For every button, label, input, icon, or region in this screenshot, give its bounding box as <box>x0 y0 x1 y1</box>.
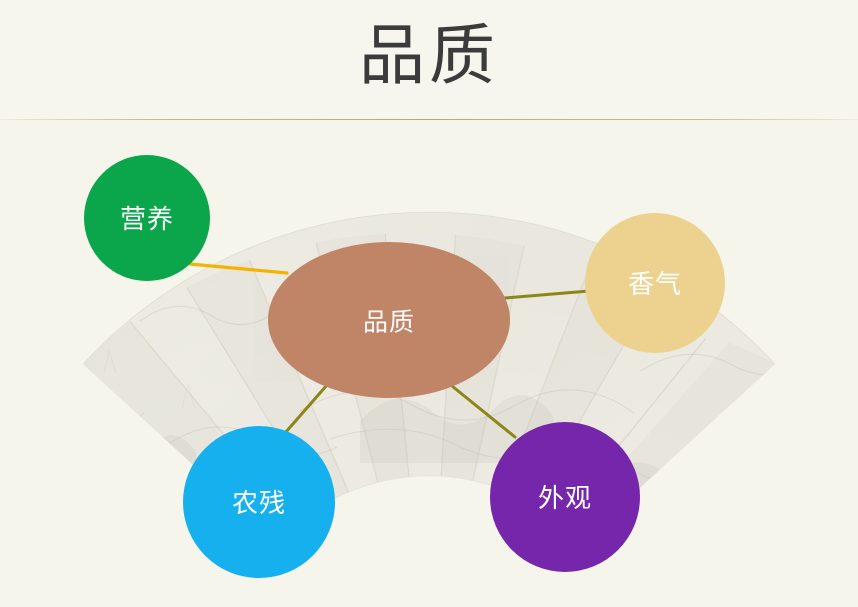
slide-canvas: 品质 <box>0 0 858 607</box>
node-aroma[interactable]: 香气 <box>585 213 725 353</box>
page-title: 品质 <box>0 8 858 104</box>
node-appearance[interactable]: 外观 <box>490 422 640 572</box>
node-center-label: 品质 <box>363 308 415 337</box>
connector-center-to-pesticide-residue <box>285 385 327 433</box>
node-pesticide-residue[interactable]: 农残 <box>183 426 335 578</box>
node-appearance-label: 外观 <box>538 484 592 514</box>
node-nutrition-label: 营养 <box>120 205 174 235</box>
connector-center-to-nutrition <box>190 264 287 273</box>
diagram-area: 品质 营养 香气 农残 外观 <box>0 121 858 607</box>
node-nutrition[interactable]: 营养 <box>84 155 210 281</box>
connector-center-to-aroma <box>505 291 589 298</box>
node-center-quality[interactable]: 品质 <box>268 242 510 398</box>
node-pesticide-residue-label: 农残 <box>232 489 286 519</box>
node-aroma-label: 香气 <box>628 270 682 300</box>
header-divider <box>0 119 858 120</box>
connector-center-to-appearance <box>452 386 515 437</box>
concept-map: 品质 营养 香气 农残 外观 <box>0 121 858 607</box>
slide-header: 品质 <box>0 0 858 121</box>
